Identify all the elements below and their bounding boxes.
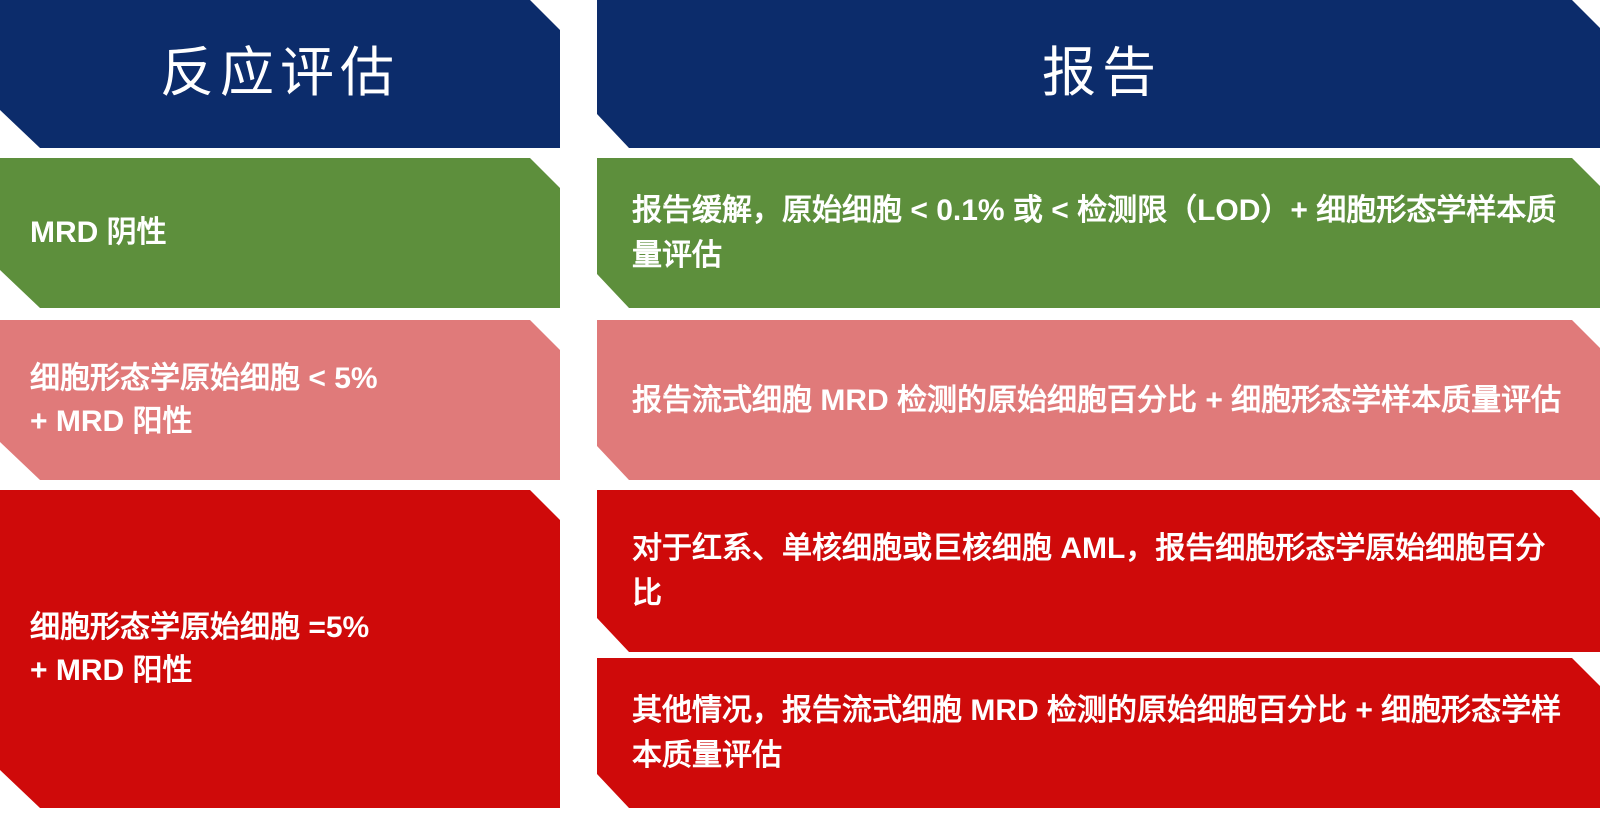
diagram-canvas: 反应评估 报告 MRD 阴性 报告缓解，原始细胞 < 0.1% 或 < 检测限（… [0,0,1600,826]
assessment-text: 细胞形态学原始细胞 =5% + MRD 阳性 [0,606,560,693]
header-assessment: 反应评估 [0,0,560,148]
report-text: 报告流式细胞 MRD 检测的原始细胞百分比 + 细胞形态学样本质量评估 [597,378,1600,423]
report-text: 报告缓解，原始细胞 < 0.1% 或 < 检测限（LOD）+ 细胞形态学样本质量… [597,188,1600,278]
header-report: 报告 [597,0,1600,148]
report-cell-mrd-negative: 报告缓解，原始细胞 < 0.1% 或 < 检测限（LOD）+ 细胞形态学样本质量… [597,158,1600,308]
assessment-text: MRD 阴性 [0,211,560,255]
assessment-cell-morphology-eq5: 细胞形态学原始细胞 =5% + MRD 阳性 [0,490,560,808]
report-text: 其他情况，报告流式细胞 MRD 检测的原始细胞百分比 + 细胞形态学样本质量评估 [597,688,1600,778]
header-report-label: 报告 [597,44,1600,103]
assessment-cell-morphology-lt5: 细胞形态学原始细胞 < 5% + MRD 阳性 [0,320,560,480]
report-cell-morphology-eq5-a: 对于红系、单核细胞或巨核细胞 AML，报告细胞形态学原始细胞百分比 [597,490,1600,652]
report-cell-morphology-lt5: 报告流式细胞 MRD 检测的原始细胞百分比 + 细胞形态学样本质量评估 [597,320,1600,480]
report-text: 对于红系、单核细胞或巨核细胞 AML，报告细胞形态学原始细胞百分比 [597,526,1600,616]
assessment-text: 细胞形态学原始细胞 < 5% + MRD 阳性 [0,357,560,444]
report-cell-morphology-eq5-b: 其他情况，报告流式细胞 MRD 检测的原始细胞百分比 + 细胞形态学样本质量评估 [597,658,1600,808]
header-assessment-label: 反应评估 [0,44,560,103]
assessment-cell-mrd-negative: MRD 阴性 [0,158,560,308]
